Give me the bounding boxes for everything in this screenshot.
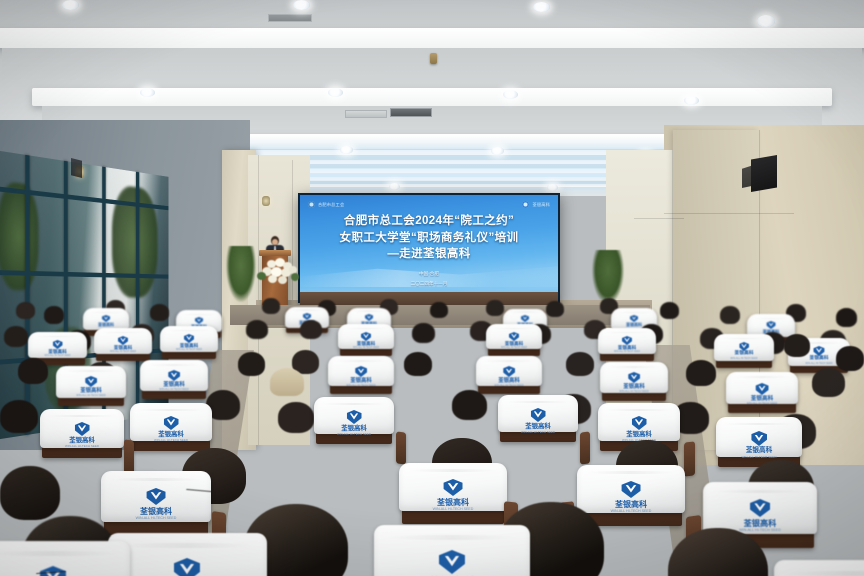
chair-row-b: 荃银高科 WIN-ALL HI-TECH SEED <box>340 326 392 356</box>
audience-head <box>0 466 60 520</box>
chair-logo-cn: 荃银高科 <box>746 448 772 455</box>
chair-row-f: 荃银高科 WIN-ALL HI-TECH SEED <box>378 530 526 576</box>
chair-logo-en: WIN-ALL HI-TECH SEED <box>494 385 523 388</box>
chair-logo-en: WIN-ALL HI-TECH SEED <box>739 529 781 533</box>
conference-hall-photo: 合肥市总工会 荃银高科 合肥市总工会2024年“院工之约” 女职工大学堂“职场商… <box>0 0 864 576</box>
ceiling-spotlight <box>62 0 79 10</box>
chair-logo-en: WIN-ALL HI-TECH SEED <box>346 385 375 388</box>
wall-mounted-loudspeaker <box>751 155 777 192</box>
chair-row-d: 荃银高科 WIN-ALL HI-TECH SEED <box>42 412 122 458</box>
presentation-slide: 合肥市总工会 荃银高科 合肥市总工会2024年“院工之约” 女职工大学堂“职场商… <box>300 195 558 301</box>
slide-subtitle-line-1: 中国·合肥 <box>300 270 558 279</box>
union-emblem-icon <box>308 201 315 208</box>
chair-logo-en: WIN-ALL HI-TECH SEED <box>65 445 99 448</box>
chair-logo-en: WIN-ALL HI-TECH SEED <box>353 347 379 349</box>
chair-row-c: 荃银高科 WIN-ALL HI-TECH SEED <box>728 374 796 413</box>
chair-logo-en: WIN-ALL HI-TECH SEED <box>730 358 757 360</box>
chair-row-c: 荃银高科 WIN-ALL HI-TECH SEED <box>330 358 392 394</box>
chair-row-d: 荃银高科 WIN-ALL HI-TECH SEED <box>500 398 576 442</box>
chair-logo-cn: 荃银高科 <box>626 323 642 327</box>
chair-row-b: 荃银高科 WIN-ALL HI-TECH SEED <box>162 328 216 359</box>
chair-row-f: 荃银高科 WIN-ALL HI-TECH SEED <box>112 538 262 576</box>
ceiling-air-vent <box>390 108 432 117</box>
chair-row-b: 荃银高科 WIN-ALL HI-TECH SEED <box>96 330 150 361</box>
chair-logo-en: WIN-ALL HI-TECH SEED <box>747 403 778 406</box>
slide-text-block: 合肥市总工会2024年“院工之约” 女职工大学堂“职场商务礼仪”培训 —走进荃银… <box>300 213 558 288</box>
ceiling-spotlight <box>328 88 343 97</box>
chair-logo-en: WIN-ALL HI-TECH SEED <box>159 389 188 392</box>
ceiling-spotlight <box>140 88 155 97</box>
chair-logo-en: WIN-ALL HI-TECH SEED <box>337 433 371 436</box>
chair-logo-mark-icon <box>444 479 463 496</box>
slide-logo-left-text: 合肥市总工会 <box>318 202 344 208</box>
chair-row-d: 荃银高科 WIN-ALL HI-TECH SEED <box>316 400 392 444</box>
chair-logo-en: WIN-ALL HI-TECH SEED <box>44 355 70 357</box>
slide-title-line-2: 女职工大学堂“职场商务礼仪”培训 <box>300 230 558 247</box>
chair-logo-en: WIN-ALL HI-TECH SEED <box>176 349 202 351</box>
chair-row-c: 荃银高科 WIN-ALL HI-TECH SEED <box>58 368 124 406</box>
slide-title-line-1: 合肥市总工会2024年“院工之约” <box>300 213 558 230</box>
podium-top <box>259 250 291 256</box>
slide-title-line-3: —走进荃银高科 <box>300 246 558 263</box>
chair-logo-en: WIN-ALL HI-TECH SEED <box>614 351 640 353</box>
chair-logo-cn: 荃银高科 <box>615 501 647 509</box>
audience-head <box>784 334 810 357</box>
chair-row-e: 荃银高科 WIN-ALL HI-TECH SEED <box>402 466 504 524</box>
chair-logo-mark-icon <box>164 416 179 430</box>
ceiling-spotlight <box>503 90 518 99</box>
stage-wall-lamp <box>262 196 270 206</box>
ceiling-spotlight <box>293 0 310 10</box>
flower-arrangement <box>255 258 299 286</box>
chair-row-b: 荃银高科 WIN-ALL HI-TECH SEED <box>488 326 540 356</box>
chair-logo-en: WIN-ALL HI-TECH SEED <box>741 456 776 459</box>
chair-logo-en: WIN-ALL HI-TECH SEED <box>136 517 177 521</box>
chair-row-d: 荃银高科 WIN-ALL HI-TECH SEED <box>132 406 210 451</box>
ceiling-vent-panel <box>345 110 387 118</box>
chair-logo-mark-icon <box>75 422 90 436</box>
chair-row-b: 荃银高科 WIN-ALL HI-TECH SEED <box>716 336 772 368</box>
chair-row-e: 荃银高科 WIN-ALL HI-TECH SEED <box>104 475 208 535</box>
ceiling-spotlight <box>491 147 504 155</box>
chair-logo-en: WIN-ALL HI-TECH SEED <box>611 510 652 514</box>
ceiling-spotlight <box>757 15 775 27</box>
chair-row-e: 荃银高科 WIN-ALL HI-TECH SEED <box>580 468 682 526</box>
chair-logo-mark-icon <box>147 488 166 505</box>
chair-row-c: 荃银高科 WIN-ALL HI-TECH SEED <box>602 364 666 401</box>
wall-loudspeaker-left <box>71 158 82 178</box>
chair-logo-mark-icon <box>750 499 770 517</box>
slide-subtitle-line-2: 二〇二四年十一月 <box>300 280 558 289</box>
chair-logo-mark-icon <box>531 408 546 422</box>
audience-head <box>836 346 864 371</box>
company-emblem-icon <box>522 201 529 208</box>
chair-logo-mark-icon <box>622 481 641 498</box>
ceiling-spotlight <box>389 183 400 190</box>
chair-logo-en: WIN-ALL HI-TECH SEED <box>110 351 136 353</box>
chair-row-c: 荃银高科 WIN-ALL HI-TECH SEED <box>142 362 206 399</box>
chair-logo-en: WIN-ALL HI-TECH SEED <box>501 347 527 349</box>
slide-logo-right: 荃银高科 <box>522 201 550 208</box>
slide-logo-left: 合肥市总工会 <box>308 201 344 208</box>
chair-row-c: 荃银高科 WIN-ALL HI-TECH SEED <box>478 358 540 394</box>
chair-row-b: 荃银高科 WIN-ALL HI-TECH SEED <box>600 330 654 361</box>
ceiling-air-vent-2 <box>268 14 312 22</box>
chair-logo-en: WIN-ALL HI-TECH SEED <box>805 363 832 365</box>
chair-logo-en: WIN-ALL HI-TECH SEED <box>521 431 555 434</box>
chair-logo-en: WIN-ALL HI-TECH SEED <box>619 391 648 394</box>
chair-logo-mark-icon <box>632 416 647 430</box>
chair-logo-cn: 荃银高科 <box>437 499 469 507</box>
chair-logo-mark-icon <box>347 410 362 424</box>
sprinkler-head <box>430 53 437 64</box>
projection-screen: 合肥市总工会 荃银高科 合肥市总工会2024年“院工之约” 女职工大学堂“职场商… <box>298 193 560 303</box>
audience-member-with-hat <box>270 368 304 396</box>
ceiling-spotlight <box>533 2 550 12</box>
slide-logo-right-text: 荃银高科 <box>532 202 550 208</box>
chair-logo-cn: 荃银高科 <box>98 323 114 327</box>
ceiling-spotlight <box>547 184 558 191</box>
chair-logo-en: WIN-ALL HI-TECH SEED <box>433 508 474 512</box>
chair-logo-mark-icon <box>751 431 767 446</box>
ceiling-spotlight <box>340 146 353 154</box>
chair-logo-mark-icon <box>174 558 200 576</box>
seated-audience: 荃银高科 荃银高科 荃银高科 荃银高科 荃银高科 荃银高科 <box>0 290 864 576</box>
chair-logo-cn: 荃银高科 <box>140 508 172 516</box>
chair-logo-en: WIN-ALL HI-TECH SEED <box>154 439 188 442</box>
chair-logo-mark-icon <box>439 550 465 574</box>
chair-logo-en: WIN-ALL HI-TECH SEED <box>76 395 105 398</box>
ceiling-spotlight <box>684 96 699 105</box>
chair-logo-cn: 荃银高科 <box>744 520 777 528</box>
chair-row-f: 荃银高科 <box>778 566 864 576</box>
